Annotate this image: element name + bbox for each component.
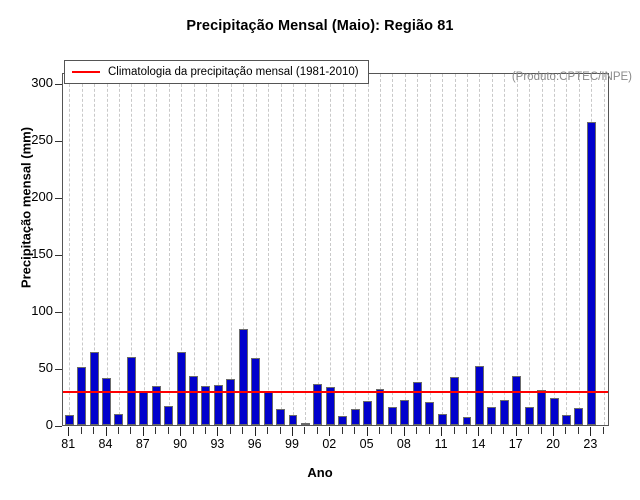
bar bbox=[189, 376, 198, 425]
y-axis-tick-label: 300 bbox=[3, 75, 53, 90]
bar bbox=[487, 407, 496, 425]
bar bbox=[562, 415, 571, 425]
grid-line-vertical bbox=[343, 74, 345, 425]
x-axis-tick-label: 02 bbox=[314, 437, 344, 451]
x-axis-tick bbox=[354, 427, 355, 434]
bar bbox=[164, 406, 173, 425]
bar bbox=[114, 414, 123, 425]
grid-line-vertical bbox=[281, 74, 283, 425]
y-axis-tick-label: 150 bbox=[3, 246, 53, 261]
x-axis-tick bbox=[429, 427, 430, 434]
bar bbox=[264, 391, 273, 425]
x-axis-tick bbox=[441, 427, 442, 436]
x-axis-tick bbox=[81, 427, 82, 434]
bar bbox=[276, 409, 285, 425]
y-axis-tick bbox=[55, 312, 62, 313]
bar bbox=[388, 407, 397, 425]
bar bbox=[239, 329, 248, 425]
x-axis-tick bbox=[217, 427, 218, 436]
bar bbox=[301, 423, 310, 425]
plot-area bbox=[62, 73, 609, 426]
x-axis-tick bbox=[106, 427, 107, 436]
x-axis-tick-label: 17 bbox=[501, 437, 531, 451]
grid-line-vertical bbox=[330, 74, 332, 425]
bar bbox=[425, 402, 434, 425]
bar bbox=[500, 400, 509, 425]
bar bbox=[363, 401, 372, 425]
grid-line-vertical bbox=[305, 74, 307, 425]
bar bbox=[289, 415, 298, 425]
x-axis-tick bbox=[416, 427, 417, 434]
bar bbox=[90, 352, 99, 425]
bar bbox=[550, 398, 559, 425]
x-axis-tick bbox=[491, 427, 492, 434]
bar bbox=[574, 408, 583, 425]
x-axis-title: Ano bbox=[0, 465, 640, 480]
bar bbox=[351, 409, 360, 425]
grid-line-vertical bbox=[455, 74, 457, 425]
bar bbox=[326, 387, 335, 425]
x-axis-tick bbox=[578, 427, 579, 434]
bar bbox=[77, 367, 86, 425]
grid-line-vertical bbox=[69, 74, 71, 425]
grid-line-vertical bbox=[392, 74, 394, 425]
grid-line-vertical bbox=[368, 74, 370, 425]
y-axis-title: Precipitação mensal (mm) bbox=[19, 78, 34, 338]
x-axis-tick bbox=[379, 427, 380, 434]
x-axis-tick-label: 96 bbox=[240, 437, 270, 451]
x-axis-tick bbox=[205, 427, 206, 434]
grid-line-vertical bbox=[579, 74, 581, 425]
x-axis-tick bbox=[391, 427, 392, 434]
bar bbox=[463, 417, 472, 425]
bar bbox=[376, 389, 385, 425]
x-axis-tick-label: 05 bbox=[352, 437, 382, 451]
x-axis-tick bbox=[180, 427, 181, 436]
x-axis-tick bbox=[168, 427, 169, 434]
y-axis-tick bbox=[55, 426, 62, 427]
x-axis-tick bbox=[454, 427, 455, 434]
x-axis-tick bbox=[590, 427, 591, 436]
grid-line-vertical bbox=[144, 74, 146, 425]
x-axis-tick bbox=[304, 427, 305, 434]
x-axis-tick bbox=[478, 427, 479, 436]
bar bbox=[177, 352, 186, 425]
bar bbox=[587, 122, 596, 425]
grid-line-vertical bbox=[119, 74, 121, 425]
bar bbox=[226, 379, 235, 425]
x-axis-tick bbox=[367, 427, 368, 436]
grid-line-vertical bbox=[380, 74, 382, 425]
grid-line-vertical bbox=[318, 74, 320, 425]
x-axis-tick-label: 08 bbox=[389, 437, 419, 451]
y-axis-tick-label: 200 bbox=[3, 189, 53, 204]
x-axis-tick bbox=[342, 427, 343, 434]
chart-title: Precipitação Mensal (Maio): Região 81 bbox=[0, 18, 640, 34]
bar bbox=[338, 416, 347, 425]
bar bbox=[438, 414, 447, 425]
x-axis-tick bbox=[230, 427, 231, 434]
climatology-line bbox=[63, 391, 608, 393]
x-axis-tick bbox=[553, 427, 554, 436]
grid-line-vertical bbox=[442, 74, 444, 425]
x-axis-tick bbox=[130, 427, 131, 434]
x-axis-tick bbox=[255, 427, 256, 436]
y-axis-tick-label: 250 bbox=[3, 132, 53, 147]
x-axis-tick bbox=[516, 427, 517, 436]
x-axis-tick bbox=[242, 427, 243, 434]
y-axis-tick bbox=[55, 255, 62, 256]
grid-line-vertical bbox=[492, 74, 494, 425]
grid-line-vertical bbox=[542, 74, 544, 425]
grid-line-vertical bbox=[517, 74, 519, 425]
x-axis-tick bbox=[193, 427, 194, 434]
grid-line-vertical bbox=[467, 74, 469, 425]
bar bbox=[139, 391, 148, 425]
x-axis-tick-label: 87 bbox=[128, 437, 158, 451]
y-axis-tick-label: 50 bbox=[3, 360, 53, 375]
grid-line-vertical bbox=[504, 74, 506, 425]
chart-figure: Precipitação Mensal (Maio): Região 81 Pr… bbox=[0, 0, 640, 500]
x-axis-tick bbox=[565, 427, 566, 434]
grid-line-vertical bbox=[107, 74, 109, 425]
x-axis-tick bbox=[317, 427, 318, 434]
bar bbox=[475, 366, 484, 425]
grid-line-vertical bbox=[566, 74, 568, 425]
x-axis-tick bbox=[603, 427, 604, 434]
x-axis-tick-label: 14 bbox=[463, 437, 493, 451]
grid-line-vertical bbox=[355, 74, 357, 425]
x-axis-tick bbox=[68, 427, 69, 436]
grid-line-vertical bbox=[554, 74, 556, 425]
bar bbox=[400, 400, 409, 425]
grid-line-vertical bbox=[268, 74, 270, 425]
y-axis-tick-label: 0 bbox=[3, 417, 53, 432]
legend-item-label: Climatologia da precipitação mensal (198… bbox=[108, 66, 359, 78]
x-axis-tick bbox=[93, 427, 94, 434]
x-axis-tick bbox=[292, 427, 293, 436]
x-axis-tick-label: 81 bbox=[53, 437, 83, 451]
bar bbox=[450, 377, 459, 425]
y-axis-tick bbox=[55, 369, 62, 370]
x-axis-tick bbox=[466, 427, 467, 434]
x-axis-tick-label: 20 bbox=[538, 437, 568, 451]
x-axis-tick bbox=[541, 427, 542, 434]
grid-line-vertical bbox=[206, 74, 208, 425]
x-axis-tick bbox=[267, 427, 268, 434]
x-axis-tick-label: 84 bbox=[91, 437, 121, 451]
legend: Climatologia da precipitação mensal (198… bbox=[64, 60, 369, 84]
x-axis-tick bbox=[528, 427, 529, 434]
bar bbox=[512, 376, 521, 425]
x-axis-tick-label: 23 bbox=[575, 437, 605, 451]
bar bbox=[537, 390, 546, 425]
grid-line-vertical bbox=[218, 74, 220, 425]
x-axis-tick bbox=[280, 427, 281, 434]
bar bbox=[65, 415, 74, 425]
bar bbox=[413, 382, 422, 425]
grid-line-vertical bbox=[430, 74, 432, 425]
x-axis-tick bbox=[155, 427, 156, 434]
x-axis-tick bbox=[143, 427, 144, 436]
x-axis-tick bbox=[329, 427, 330, 436]
bar bbox=[102, 378, 111, 425]
grid-line-vertical bbox=[529, 74, 531, 425]
y-axis-tick bbox=[55, 141, 62, 142]
x-axis-tick-label: 99 bbox=[277, 437, 307, 451]
x-axis-tick-label: 11 bbox=[426, 437, 456, 451]
x-axis-tick bbox=[404, 427, 405, 436]
grid-line-vertical bbox=[417, 74, 419, 425]
legend-line-swatch bbox=[72, 71, 100, 73]
grid-line-vertical bbox=[169, 74, 171, 425]
product-credit-annotation: (Produto:CPTEC/INPE) bbox=[512, 71, 632, 83]
grid-line-vertical bbox=[156, 74, 158, 425]
x-axis-tick-label: 90 bbox=[165, 437, 195, 451]
x-axis-tick bbox=[118, 427, 119, 434]
grid-line-vertical bbox=[405, 74, 407, 425]
y-axis-tick bbox=[55, 198, 62, 199]
grid-line-vertical bbox=[293, 74, 295, 425]
y-axis-tick bbox=[55, 84, 62, 85]
y-axis-tick-label: 100 bbox=[3, 303, 53, 318]
x-axis-tick bbox=[503, 427, 504, 434]
grid-line-vertical bbox=[194, 74, 196, 425]
bar bbox=[525, 407, 534, 425]
grid-line-vertical bbox=[604, 74, 606, 425]
grid-line-vertical bbox=[231, 74, 233, 425]
x-axis-tick-label: 93 bbox=[202, 437, 232, 451]
